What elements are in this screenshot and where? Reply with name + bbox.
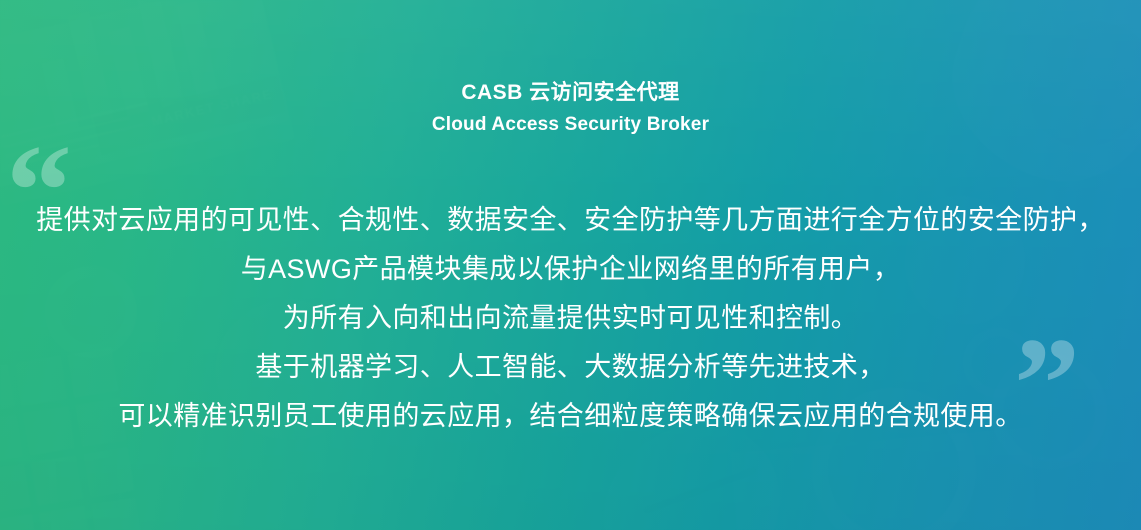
slide-content: CASB 云访问安全代理 Cloud Access Security Broke… <box>0 0 1141 530</box>
description-line: 为所有入向和出向流量提供实时可见性和控制。 <box>0 294 1141 343</box>
description-line: 提供对云应用的可见性、合规性、数据安全、安全防护等几方面进行全方位的安全防护， <box>0 196 1141 245</box>
page-title-cn: CASB 云访问安全代理 <box>0 78 1141 108</box>
description-line: 可以精准识别员工使用的云应用，结合细粒度策略确保云应用的合规使用。 <box>0 392 1141 441</box>
title-block: CASB 云访问安全代理 Cloud Access Security Broke… <box>0 78 1141 139</box>
description-block: 提供对云应用的可见性、合规性、数据安全、安全防护等几方面进行全方位的安全防护， … <box>0 196 1141 441</box>
description-line: 基于机器学习、人工智能、大数据分析等先进技术， <box>0 343 1141 392</box>
slide-canvas: MARKET SHARE CASB 云访问安全代理 Cloud Access <box>0 0 1141 530</box>
page-title-en: Cloud Access Security Broker <box>0 111 1141 139</box>
description-line: 与ASWG产品模块集成以保护企业网络里的所有用户， <box>0 245 1141 294</box>
